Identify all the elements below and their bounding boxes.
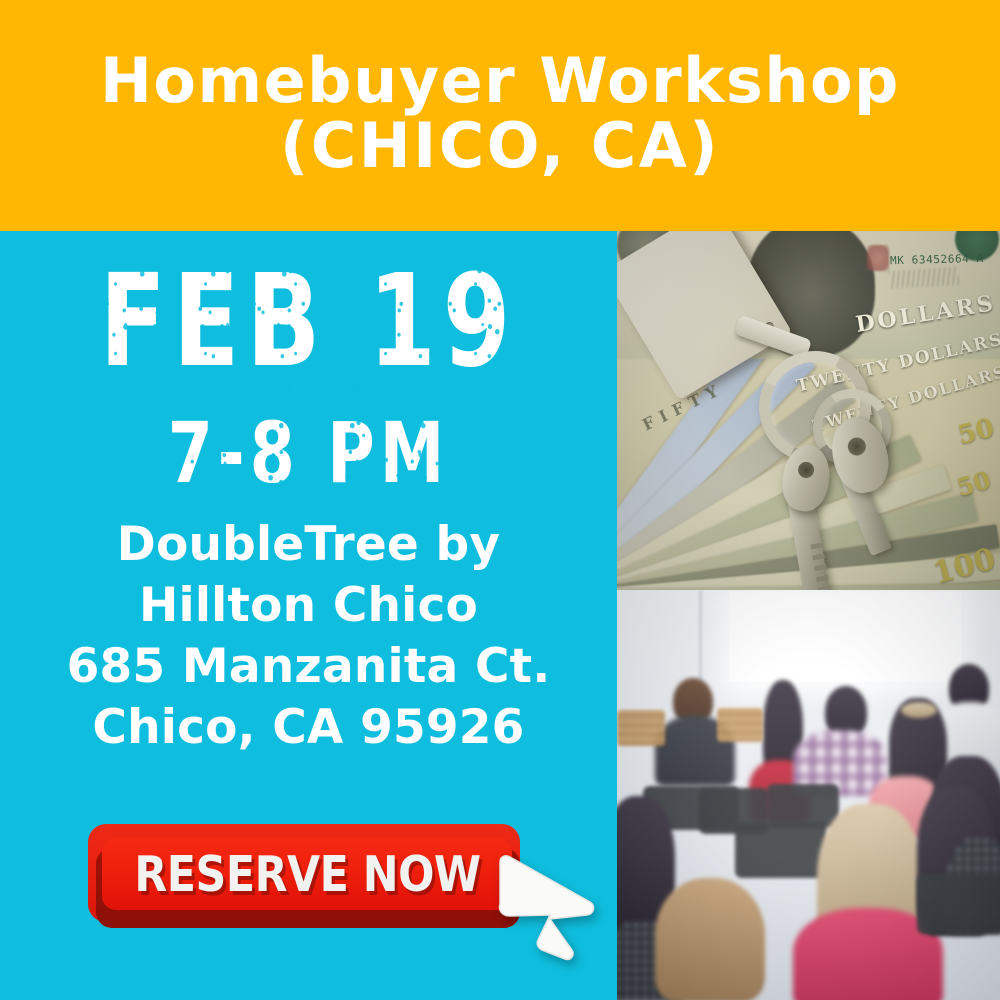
note-denomination-50-b: 50 — [953, 465, 993, 502]
page-title-line-1: Homebuyer Workshop — [100, 49, 900, 113]
key-hole-a — [846, 436, 868, 458]
reserve-now-label: RESERVE NOW — [134, 846, 480, 903]
venue-name-line-1: DoubleTree by — [0, 514, 617, 575]
note-red-mark — [867, 245, 889, 271]
page-title-line-2: (CHICO, CA) — [280, 114, 720, 178]
note-denomination-50-a: 50 — [955, 413, 997, 451]
venue-name-line-2: Hillton Chico — [0, 575, 617, 636]
event-info-panel: FEB 19 7-8 PM DoubleTree by Hillton Chic… — [0, 231, 617, 1000]
flyer-canvas: Homebuyer Workshop (CHICO, CA) FEB 19 7-… — [0, 0, 1000, 1000]
note-serial-number: MK 63452664 A — [890, 252, 984, 267]
date-time-block: FEB 19 7-8 PM — [0, 259, 617, 483]
event-date: FEB 19 — [100, 259, 518, 386]
attendee-headband — [901, 702, 937, 718]
venue-city-state-zip: Chico, CA 95926 — [0, 697, 617, 758]
venue-address-block: DoubleTree by Hillton Chico 685 Manzanit… — [0, 514, 617, 758]
money-photo-scene: MK 63452664 A DOLLARS TWENTY DOLLARS TWE… — [617, 231, 1000, 590]
mouse-cursor-arrow-icon — [486, 852, 606, 962]
reserve-now-button[interactable]: RESERVE NOW — [88, 824, 528, 934]
photo-money-and-keys: MK 63452664 A DOLLARS TWENTY DOLLARS TWE… — [617, 231, 1000, 590]
header-band: Homebuyer Workshop (CHICO, CA) — [0, 0, 1000, 231]
chair-wooden — [717, 708, 763, 742]
note-signature — [889, 267, 960, 289]
photo-workshop-audience — [617, 590, 1000, 1000]
classroom-photo-scene — [617, 590, 1000, 1000]
chair — [917, 874, 1000, 934]
event-time: 7-8 PM — [168, 411, 450, 495]
key-hole-b — [797, 461, 815, 479]
photo-column: MK 63452664 A DOLLARS TWENTY DOLLARS TWE… — [617, 231, 1000, 1000]
chair — [735, 822, 827, 878]
cta-inner-plate: RESERVE NOW — [102, 838, 512, 910]
chair-wooden — [617, 710, 665, 746]
attendee-head — [655, 878, 765, 1000]
venue-street: 685 Manzanita Ct. — [0, 636, 617, 697]
projector-screen — [729, 592, 961, 682]
